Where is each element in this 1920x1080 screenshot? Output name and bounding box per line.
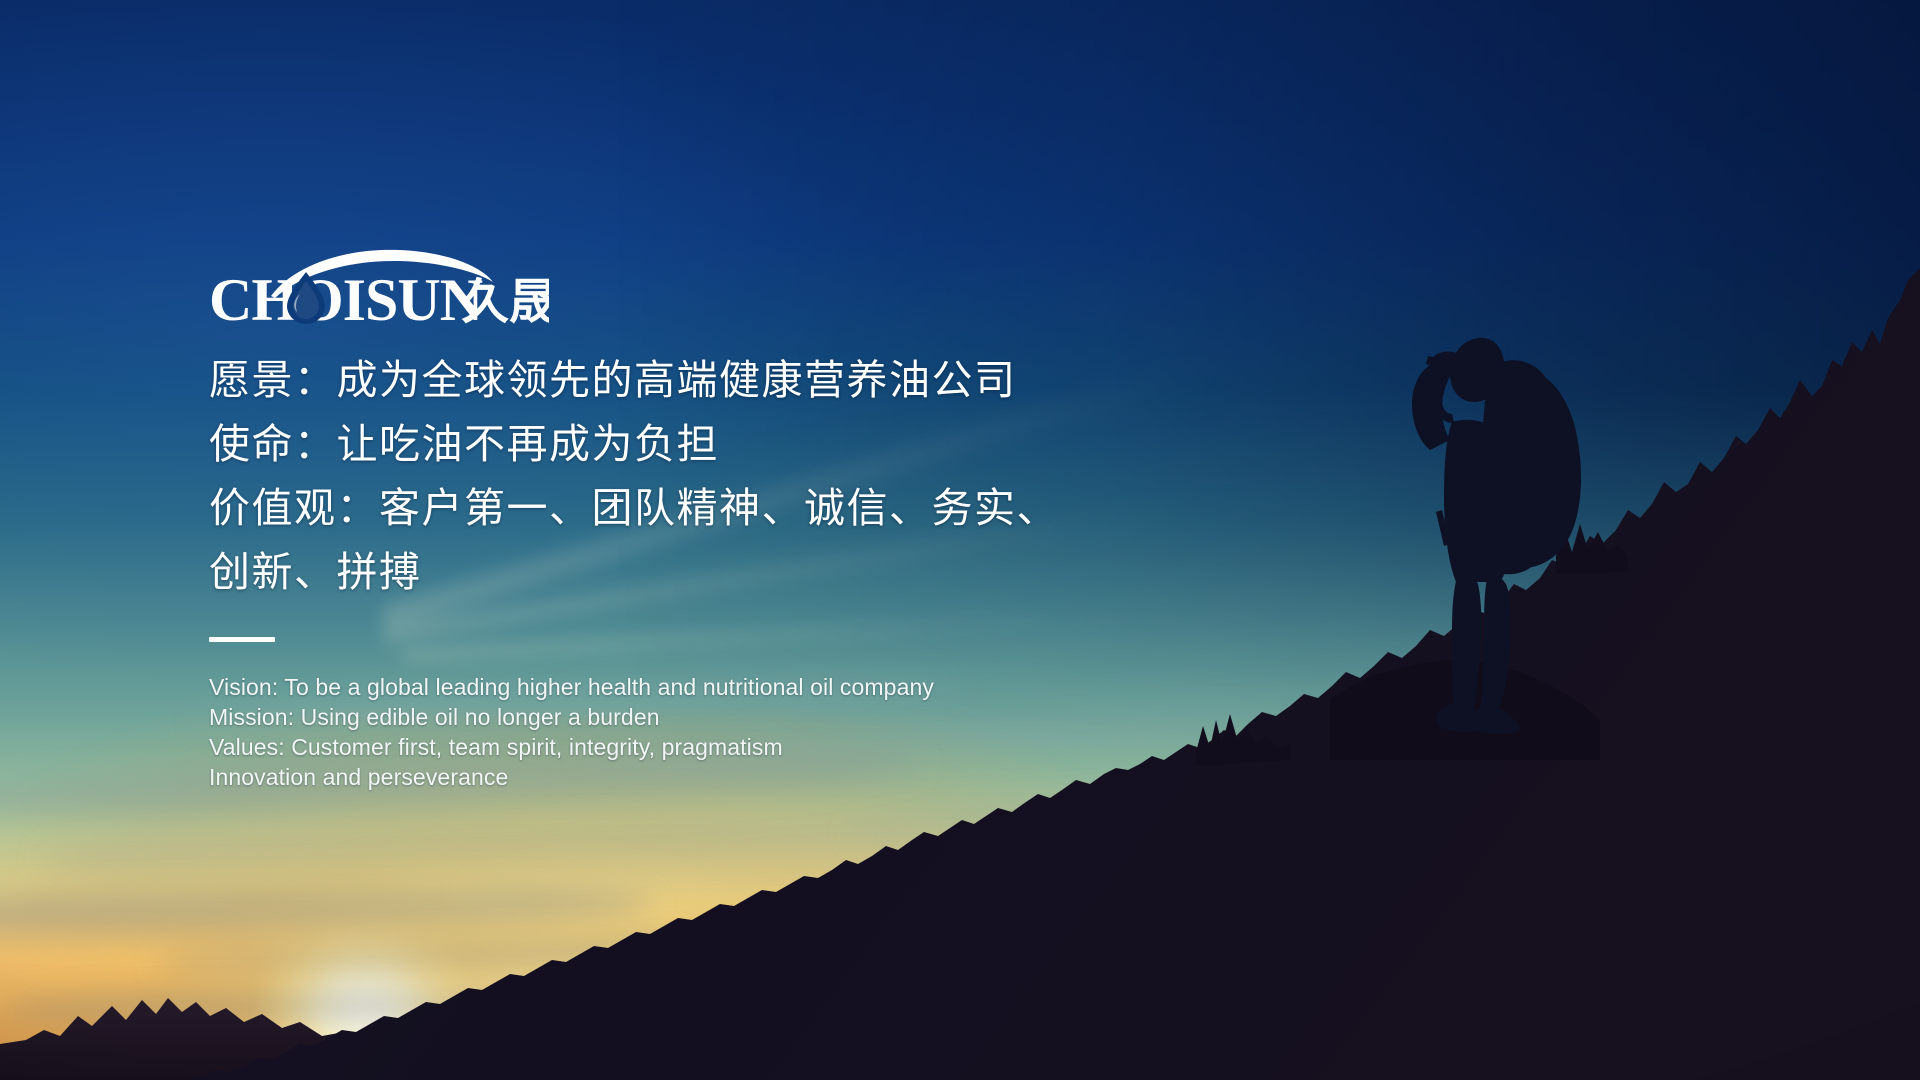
logo-wordmark-cn: 久晟 bbox=[461, 274, 549, 326]
choisun-logo[interactable]: CHOISUN 久晟 bbox=[209, 248, 549, 326]
logo-wordmark-latin: CHOISUN bbox=[209, 267, 483, 326]
statement-en-vision: Vision: To be a global leading higher he… bbox=[209, 672, 1209, 702]
statement-en-values: Values: Customer first, team spirit, int… bbox=[209, 732, 1209, 762]
content-block: CHOISUN 久晟 愿景：成为全球领先的高端健康营养油公司 使命：让吃油不再成… bbox=[209, 248, 1209, 792]
statement-cn-vision: 愿景：成为全球领先的高端健康营养油公司 bbox=[209, 348, 1209, 412]
statements-en: Vision: To be a global leading higher he… bbox=[209, 672, 1209, 792]
statements-cn: 愿景：成为全球领先的高端健康营养油公司 使命：让吃油不再成为负担 价值观：客户第… bbox=[209, 348, 1209, 604]
statement-cn-values-continued: 创新、拼搏 bbox=[209, 540, 1209, 604]
statement-cn-mission: 使命：让吃油不再成为负担 bbox=[209, 412, 1209, 476]
statement-en-values-continued: Innovation and perseverance bbox=[209, 762, 1209, 792]
slide-canvas: CHOISUN 久晟 愿景：成为全球领先的高端健康营养油公司 使命：让吃油不再成… bbox=[0, 0, 1920, 1080]
divider-rule bbox=[209, 637, 275, 642]
statement-cn-values: 价值观：客户第一、团队精神、诚信、务实、 bbox=[209, 476, 1209, 540]
statement-en-mission: Mission: Using edible oil no longer a bu… bbox=[209, 702, 1209, 732]
hiker-silhouette bbox=[1392, 330, 1622, 750]
